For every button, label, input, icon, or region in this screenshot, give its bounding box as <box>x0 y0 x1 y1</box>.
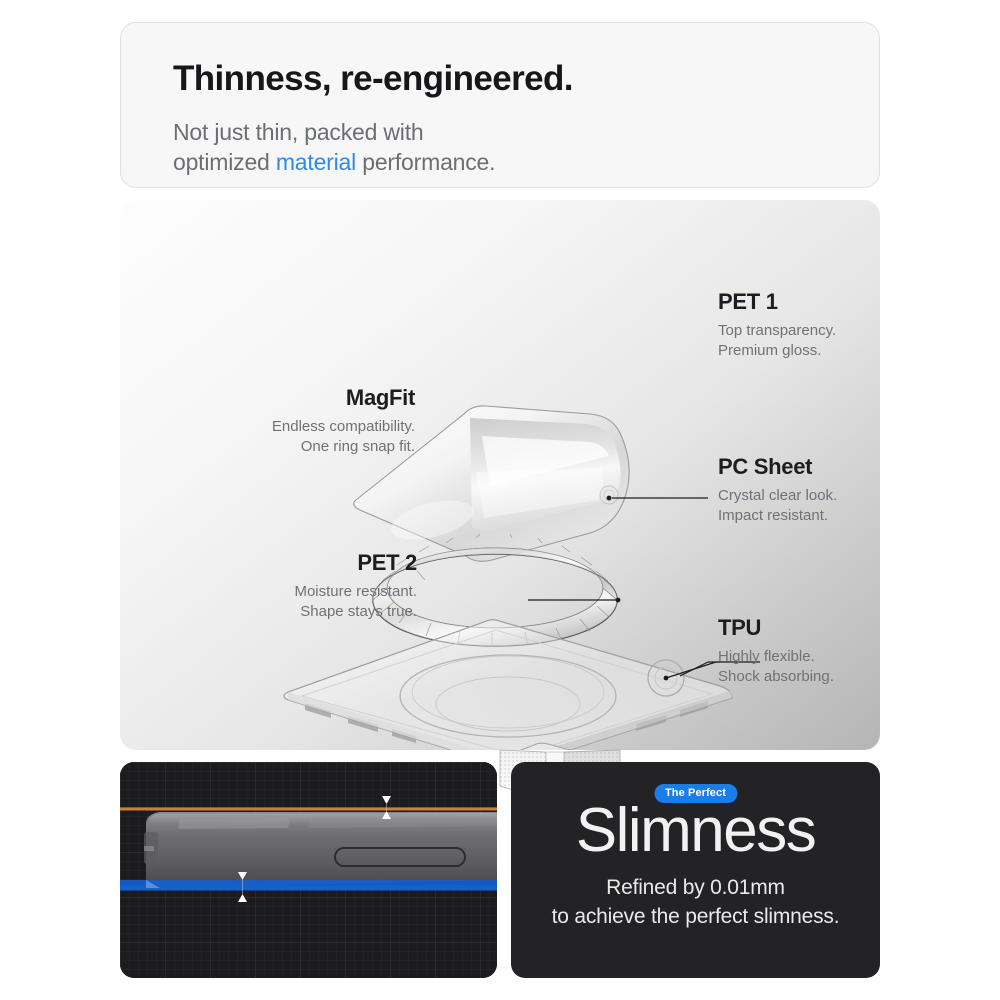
subtitle-line-2-pre: optimized <box>173 149 276 175</box>
slimness-subtitle: Refined by 0.01mm to achieve the perfect… <box>511 874 880 932</box>
callout-pcsheet-desc-line1: Crystal clear look. <box>718 487 837 504</box>
callout-tpu-desc-line2: Shock absorbing. <box>718 668 834 685</box>
page-subtitle: Not just thin, packed with optimized mat… <box>173 117 495 178</box>
subtitle-line-2-post: performance. <box>356 149 495 175</box>
callout-magfit-desc-line1: Endless compatibility. <box>272 418 415 435</box>
callout-pet1-desc-line1: Top transparency. <box>718 322 836 339</box>
subtitle-line-1: Not just thin, packed with <box>173 119 423 145</box>
slimness-sub-line2: to achieve the perfect slimness. <box>552 905 840 928</box>
slimness-title: Slimness <box>511 800 880 862</box>
callout-pet1-title: PET 1 <box>718 290 836 314</box>
callout-tpu: TPU Highly flexible. Shock absorbing. <box>718 616 834 687</box>
callout-pet2: PET 2 Moisture resistant. Shape stays tr… <box>155 551 417 622</box>
callout-magfit: MagFit Endless compatibility. One ring s… <box>155 386 415 457</box>
callout-tpu-desc: Highly flexible. Shock absorbing. <box>718 647 834 687</box>
callout-pcsheet-desc: Crystal clear look. Impact resistant. <box>718 486 837 526</box>
callout-magfit-desc-line2: One ring snap fit. <box>301 438 415 455</box>
callout-magfit-desc: Endless compatibility. One ring snap fit… <box>155 417 415 457</box>
callout-tpu-title: TPU <box>718 616 834 640</box>
callout-pet2-desc-line2: Shape stays true. <box>300 603 417 620</box>
cross-section-card <box>120 762 497 978</box>
callout-pet1-desc-line2: Premium gloss. <box>718 342 821 359</box>
callout-pcsheet-title: PC Sheet <box>718 455 837 479</box>
layer-pcsheet-graphic <box>284 620 732 750</box>
header-card: Thinness, re-engineered. Not just thin, … <box>120 22 880 188</box>
callout-pet2-desc-line1: Moisture resistant. <box>294 583 417 600</box>
subtitle-highlight-material: material <box>276 149 356 175</box>
callout-pet1-desc: Top transparency. Premium gloss. <box>718 321 836 361</box>
slimness-sub-line1: Refined by 0.01mm <box>606 876 785 899</box>
callout-pet2-title: PET 2 <box>155 551 417 575</box>
product-infographic: Thinness, re-engineered. Not just thin, … <box>0 0 1000 1000</box>
callout-pcsheet-desc-line2: Impact resistant. <box>718 507 828 524</box>
callout-tpu-desc-line1: Highly flexible. <box>718 648 815 665</box>
callout-magfit-title: MagFit <box>155 386 415 410</box>
callout-pet1: PET 1 Top transparency. Premium gloss. <box>718 290 836 361</box>
callout-pcsheet: PC Sheet Crystal clear look. Impact resi… <box>718 455 837 526</box>
slimness-card: The Perfect Slimness Refined by 0.01mm t… <box>511 762 880 978</box>
page-title: Thinness, re-engineered. <box>173 59 573 99</box>
callout-pet2-desc: Moisture resistant. Shape stays true. <box>155 582 417 622</box>
cross-section-graphic <box>120 762 497 978</box>
